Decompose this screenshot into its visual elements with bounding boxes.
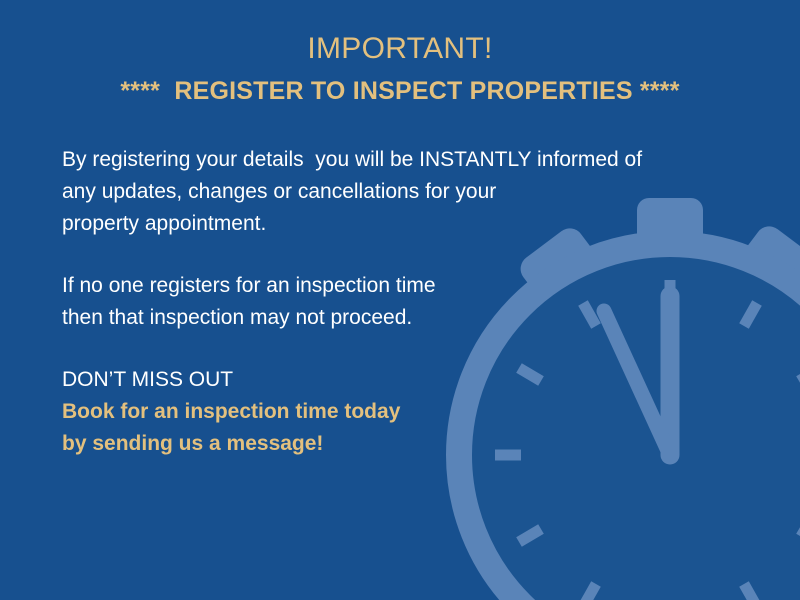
heading-block: IMPORTANT! **** REGISTER TO INSPECT PROP… [0,30,800,108]
cta-dont-miss-out: DON’T MISS OUT [62,364,722,396]
paragraph2-line1: If no one registers for an inspection ti… [62,270,722,302]
page-subtitle: **** REGISTER TO INSPECT PROPERTIES **** [0,74,800,108]
cta-book-inspection: Book for an inspection time today [62,396,722,428]
cta-send-message: by sending us a message! [62,428,722,460]
body-copy: By registering your details you will be … [62,144,722,460]
paragraph-call-to-action: DON’T MISS OUT Book for an inspection ti… [62,364,722,460]
paragraph1-line3: property appointment. [62,208,722,240]
page-title: IMPORTANT! [0,30,800,68]
paragraph1-line2: any updates, changes or cancellations fo… [62,176,722,208]
paragraph1-line1: By registering your details you will be … [62,144,722,176]
paragraph-no-registration-warning: If no one registers for an inspection ti… [62,270,722,334]
clock-right-button [740,221,800,299]
paragraph2-line2: then that inspection may not proceed. [62,302,722,334]
paragraph-registering-details: By registering your details you will be … [62,144,722,240]
slide-canvas: IMPORTANT! **** REGISTER TO INSPECT PROP… [0,0,800,600]
